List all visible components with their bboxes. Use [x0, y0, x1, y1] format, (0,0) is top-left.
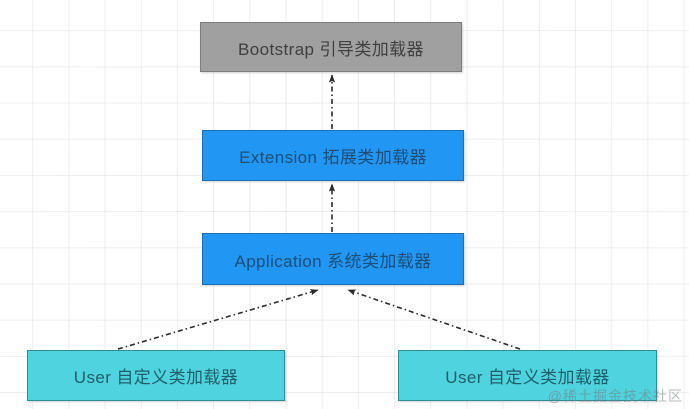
connector-user-right-to-application — [348, 290, 520, 349]
node-user-left-label: User 自定义类加载器 — [74, 363, 238, 388]
node-extension-class-loader[interactable]: Extension 拓展类加载器 — [202, 130, 464, 181]
connector-user-left-to-application — [118, 290, 318, 349]
watermark: @稀土掘金技术社区 — [548, 386, 683, 406]
node-bootstrap-class-loader[interactable]: Bootstrap 引导类加载器 — [200, 22, 462, 72]
diagram-canvas: Bootstrap 引导类加载器 Extension 拓展类加载器 Applic… — [0, 0, 689, 409]
node-application-class-loader[interactable]: Application 系统类加载器 — [202, 233, 464, 285]
node-user-class-loader-left[interactable]: User 自定义类加载器 — [27, 350, 285, 401]
node-application-label: Application 系统类加载器 — [234, 247, 431, 272]
node-bootstrap-label: Bootstrap 引导类加载器 — [238, 35, 424, 60]
node-user-right-label: User 自定义类加载器 — [445, 363, 609, 388]
node-extension-label: Extension 拓展类加载器 — [239, 143, 427, 168]
